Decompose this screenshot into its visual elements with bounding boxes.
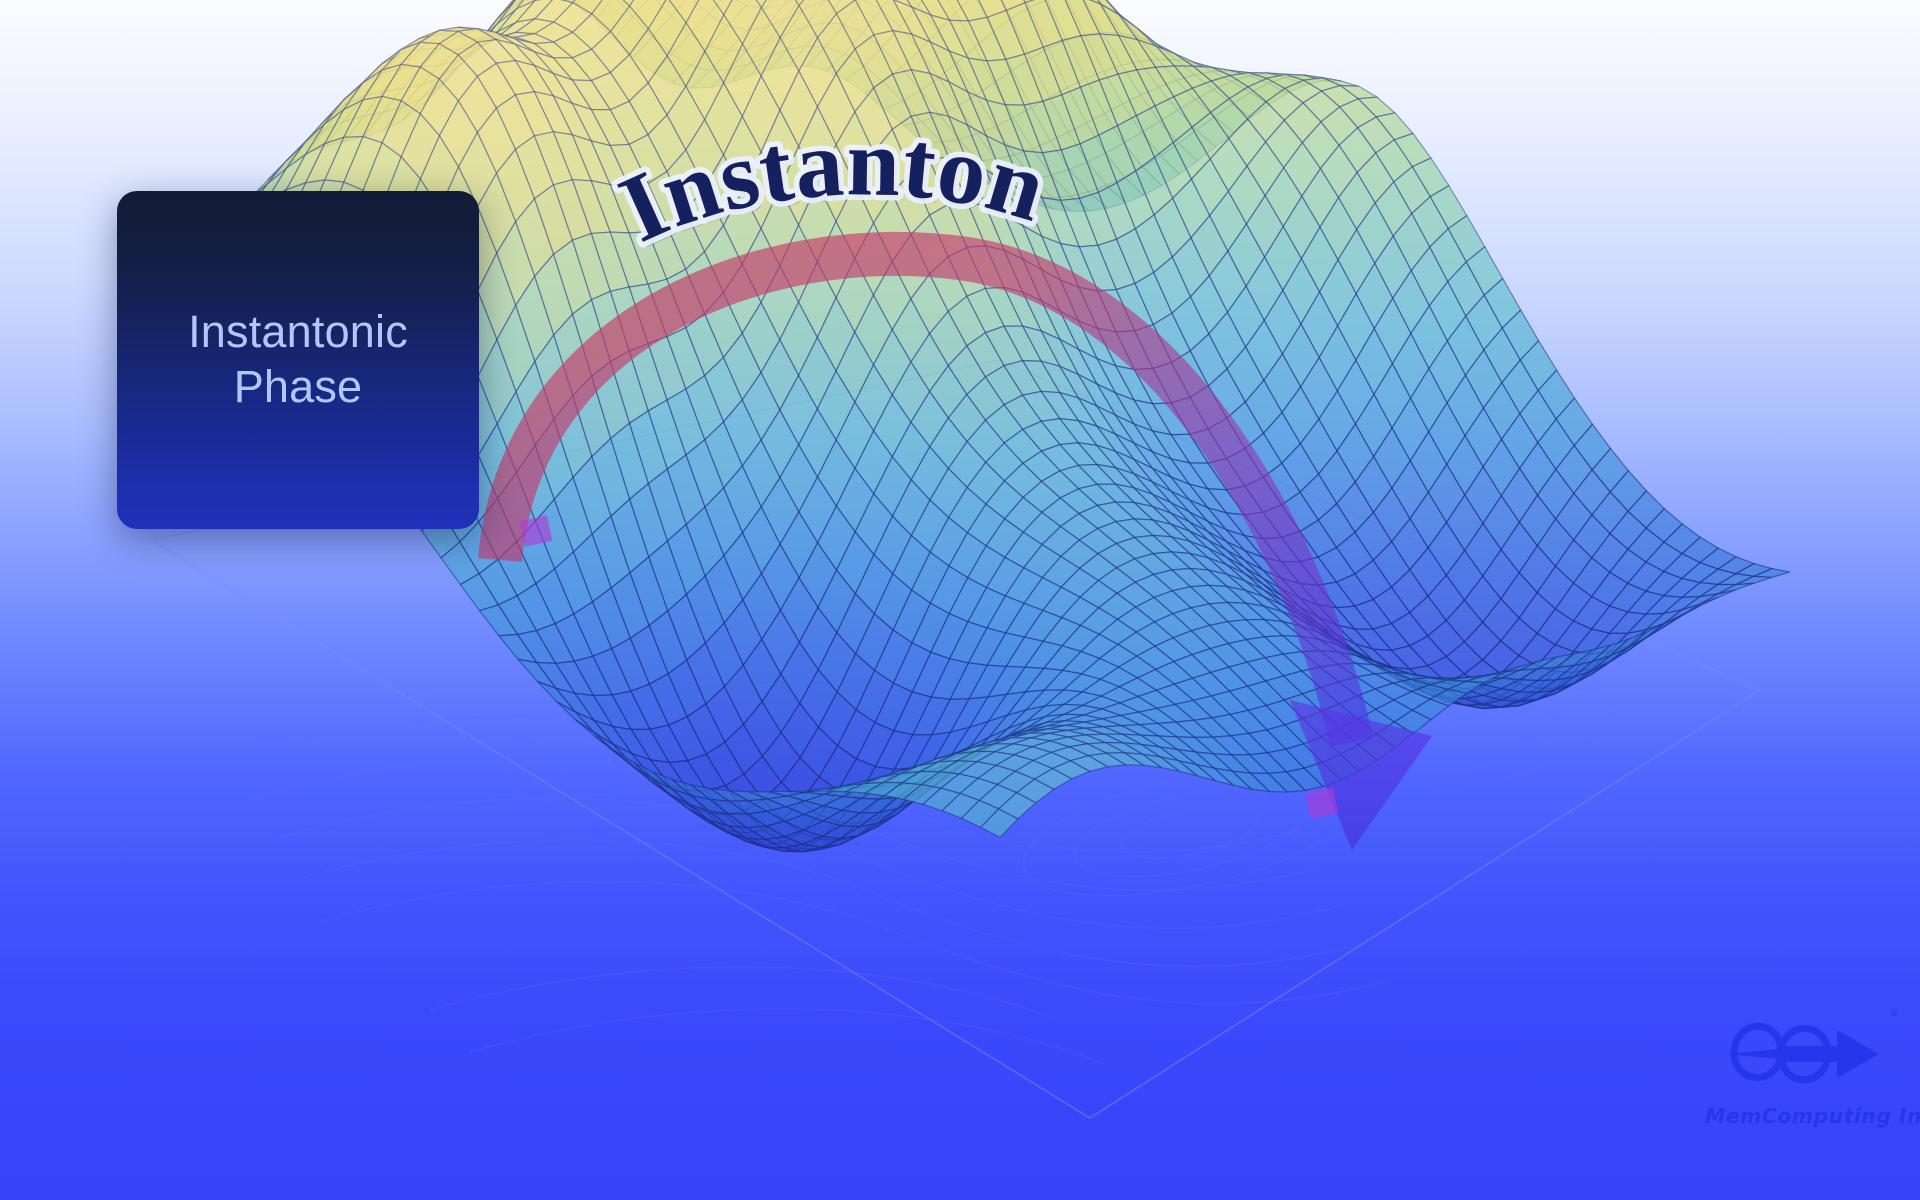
surface-plot-svg xyxy=(0,0,1920,1200)
memcomputing-infinity-arrow-icon xyxy=(1719,1008,1891,1098)
caption-line-2: Phase xyxy=(234,360,363,415)
surface-plot xyxy=(0,0,1920,1200)
memcomputing-wordmark: MemComputing Inc. xyxy=(1705,1104,1905,1128)
registered-trademark-icon: ® xyxy=(1889,1008,1899,1019)
slide-canvas: Instantonic Phase Instanton Instanton In… xyxy=(0,0,1920,1200)
end-minimum-marker xyxy=(1306,787,1339,818)
caption-line-1: Instantonic xyxy=(188,305,408,360)
instantonic-phase-card: Instantonic Phase xyxy=(117,191,479,529)
memcomputing-logo: ® MemComputing Inc. xyxy=(1705,1008,1905,1156)
